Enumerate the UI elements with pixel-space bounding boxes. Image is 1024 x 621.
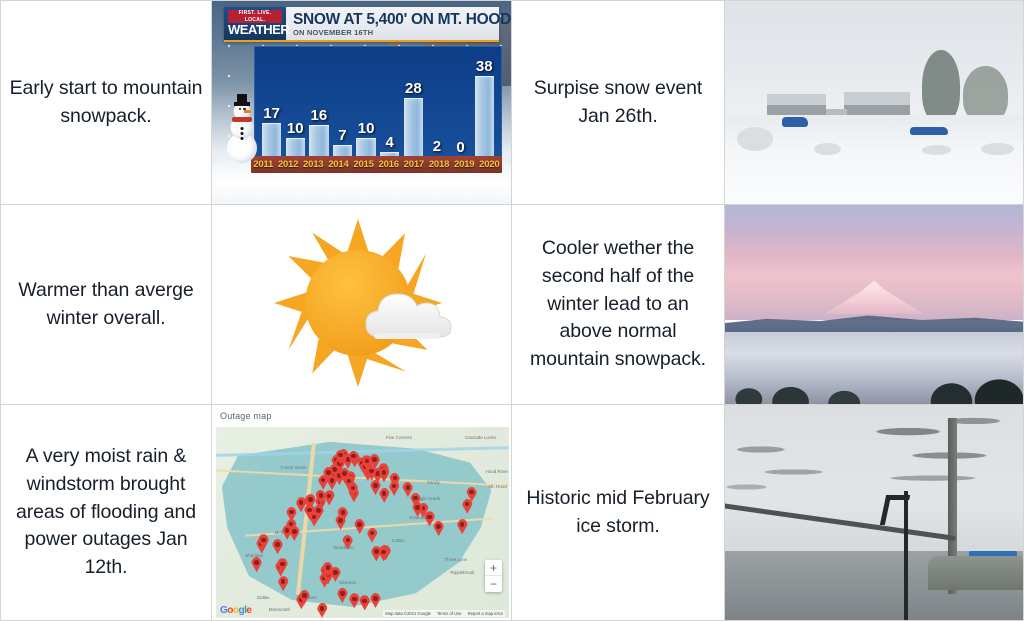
tv-weather-chart-cell: FIRST. LIVE. LOCAL. WEATHER SNOW AT 5,40… — [212, 0, 512, 205]
sun-behind-cloud-icon — [254, 217, 469, 392]
caption-text: Surpise snow event Jan 26th. — [520, 75, 716, 130]
map-attribution[interactable]: Map data ©2021 Google Terms of Use Repor… — [383, 610, 505, 617]
bar-value-label: 2 — [433, 139, 441, 154]
map-place-label: Silverton — [339, 580, 357, 585]
bar-rect — [309, 125, 328, 161]
x-axis-tick-label: 2018 — [429, 159, 449, 170]
caption-cell-surprise-snow: Surpise snow event Jan 26th. — [512, 0, 725, 205]
photo-cell-snowy-house — [725, 0, 1024, 205]
x-axis-tick-label: 2020 — [479, 159, 499, 170]
bar-value-label: 0 — [456, 140, 464, 155]
sun-cloud-icon-cell — [212, 205, 512, 405]
logo-wordmark: WEATHER — [228, 23, 282, 37]
caption-text: Historic mid February ice storm. — [520, 485, 716, 540]
snowy-house-photo — [725, 1, 1023, 204]
map-place-label: Three Lynx — [445, 557, 467, 562]
bar-value-label: 10 — [287, 121, 304, 136]
caption-text: Warmer than averge winter overall. — [9, 277, 203, 332]
zoom-out-button[interactable]: − — [485, 576, 502, 592]
bar-rect — [475, 76, 494, 160]
map-place-label: Forest Grove — [280, 465, 306, 470]
caption-cell-ice-storm: Historic mid February ice storm. — [512, 405, 725, 621]
bar-item: 0 — [451, 47, 470, 161]
map-place-label: Monmouth — [269, 607, 290, 612]
map-place-label: Ripplebrook — [450, 570, 474, 575]
map-place-label: Sandy — [427, 480, 440, 485]
tv-header-bar: FIRST. LIVE. LOCAL. WEATHER SNOW AT 5,40… — [224, 7, 499, 42]
bar-item: 10 — [286, 47, 305, 161]
map-place-label: Mt. Hood — [488, 484, 506, 489]
bar-value-label: 38 — [476, 59, 493, 74]
bar-item: 4 — [380, 47, 399, 161]
terms-of-use-link[interactable]: Terms of Use — [437, 611, 462, 616]
bar-item: 17 — [262, 47, 281, 161]
google-logo: Google — [220, 605, 251, 616]
bar-value-label: 28 — [405, 81, 422, 96]
map-place-label: Colton — [392, 538, 405, 543]
zoom-in-button[interactable]: + — [485, 560, 502, 576]
chart-title: SNOW AT 5,400' ON MT. HOOD — [293, 12, 511, 28]
outage-map-title: Outage map — [220, 411, 272, 421]
bar-rect — [404, 98, 423, 160]
slide-grid: Early start to mountain snowpack. FIRST.… — [0, 0, 1024, 621]
bar-item: 16 — [309, 47, 328, 161]
snowman-decoration — [222, 101, 261, 163]
bar-item: 2 — [427, 47, 446, 161]
map-place-label: Five Corners — [386, 435, 412, 440]
chart-plot-area: 1710167104282038 — [254, 46, 502, 162]
chart-subtitle: ON NOVEMBER 16TH — [293, 29, 511, 37]
ice-storm-photo — [725, 405, 1023, 620]
bar-item: 38 — [475, 47, 494, 161]
caption-cell-cooler-second-half: Cooler wether the second half of the win… — [512, 205, 725, 405]
x-axis-tick-label: 2015 — [353, 159, 373, 170]
mt-hood-sunset-photo — [725, 205, 1023, 404]
x-axis-year-labels: 2011201220132014201520162017201820192020 — [251, 156, 502, 172]
report-map-error-link[interactable]: Report a map error — [468, 611, 503, 616]
bar-item: 10 — [356, 47, 375, 161]
outage-map-cell[interactable]: Outage map Five CornersCascade LocksFore… — [212, 405, 512, 621]
bar-value-label: 16 — [311, 108, 328, 123]
x-axis-tick-label: 2019 — [454, 159, 474, 170]
x-axis-tick-label: 2012 — [278, 159, 298, 170]
caption-text: Cooler wether the second half of the win… — [520, 235, 716, 373]
map-place-label: Hood River — [486, 469, 509, 474]
bar-item: 28 — [404, 47, 423, 161]
map-canvas[interactable]: Five CornersCascade LocksForest GroveSan… — [216, 427, 509, 618]
bar-item: 7 — [333, 47, 352, 161]
map-place-label: Dallas — [257, 595, 270, 600]
map-data-credit: Map data ©2021 Google — [385, 611, 431, 616]
bar-value-label: 7 — [338, 128, 346, 143]
x-axis-tick-label: 2013 — [303, 159, 323, 170]
caption-cell-windstorm-outages: A very moist rain & windstorm brought ar… — [0, 405, 212, 621]
x-axis-tick-label: 2014 — [328, 159, 348, 170]
photo-cell-mt-hood — [725, 205, 1024, 405]
map-zoom-controls[interactable]: + − — [485, 560, 502, 592]
bar-rect — [262, 123, 281, 161]
bar-series: 1710167104282038 — [260, 47, 496, 161]
x-axis-tick-label: 2017 — [404, 159, 424, 170]
map-place-label: Woodburn — [333, 545, 354, 550]
x-axis-tick-label: 2016 — [379, 159, 399, 170]
station-logo: FIRST. LIVE. LOCAL. WEATHER — [224, 7, 286, 40]
caption-cell-warmer-winter: Warmer than averge winter overall. — [0, 205, 212, 405]
tv-title-group: SNOW AT 5,400' ON MT. HOOD ON NOVEMBER 1… — [286, 7, 511, 40]
photo-cell-ice-storm — [725, 405, 1024, 621]
caption-cell-early-snowpack: Early start to mountain snowpack. — [0, 0, 212, 205]
caption-text: A very moist rain & windstorm brought ar… — [9, 443, 203, 581]
bar-value-label: 10 — [358, 121, 375, 136]
map-place-label: Cascade Locks — [465, 435, 496, 440]
tv-weather-graphic: FIRST. LIVE. LOCAL. WEATHER SNOW AT 5,40… — [212, 1, 511, 204]
bar-value-label: 17 — [263, 106, 280, 121]
caption-text: Early start to mountain snowpack. — [9, 75, 203, 130]
bar-value-label: 4 — [386, 135, 394, 150]
